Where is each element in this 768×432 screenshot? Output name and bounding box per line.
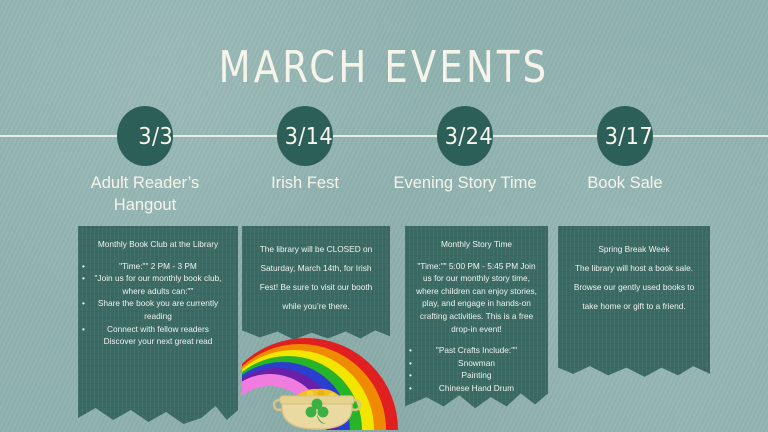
date-badge-label-1: 3/3 — [138, 123, 173, 150]
date-badge-label-3: 3/24 — [445, 123, 493, 150]
poster-stage: MARCH EVENTS 3/3 Adult Reader’s Hangout … — [0, 0, 768, 432]
list-item: Chinese Hand Drum — [415, 382, 538, 395]
event-card-2: The library will be CLOSED on Saturday, … — [242, 226, 390, 342]
list-item: "Join us for our monthly book club, wher… — [88, 272, 228, 297]
date-badge-label-2: 3/14 — [285, 123, 333, 150]
date-badge-label-4: 3/17 — [605, 123, 653, 150]
date-badge-4[interactable]: 3/17 — [597, 106, 653, 166]
card-body-2: The library will be CLOSED on Saturday, … — [252, 240, 380, 316]
list-item: Connect with fellow readers — [88, 323, 228, 336]
date-badge-3[interactable]: 3/24 — [437, 106, 493, 166]
card-body-4: The library will host a book sale. Brows… — [568, 259, 700, 316]
event-title-1: Adult Reader’s Hangout — [60, 172, 230, 216]
list-item: Share the book you are currently reading — [88, 297, 228, 322]
event-card-3: Monthly Story Time "Time:"" 5:00 PM - 5:… — [405, 226, 548, 412]
page-title: MARCH EVENTS — [0, 42, 768, 93]
event-title-2: Irish Fest — [220, 172, 390, 194]
card-heading-3: Monthly Story Time — [415, 238, 538, 251]
list-item: "Past Crafts Include:"" — [415, 344, 538, 357]
event-title-4: Book Sale — [540, 172, 710, 194]
card-bullets-1: "Time:"" 2 PM - 3 PM "Join us for our mo… — [88, 260, 228, 336]
date-badge-1[interactable]: 3/3 — [117, 106, 173, 166]
event-title-3: Evening Story Time — [380, 172, 550, 194]
date-badge-2[interactable]: 3/14 — [277, 106, 333, 166]
event-card-4: Spring Break Week The library will host … — [558, 226, 710, 380]
card-bullets-3: "Past Crafts Include:"" Snowman Painting… — [415, 344, 538, 394]
list-item: Snowman — [415, 357, 538, 370]
card-heading-4: Spring Break Week — [568, 240, 700, 259]
card-footer-1: Discover your next great read — [88, 335, 228, 348]
card-body-3: "Time:"" 5:00 PM - 5:45 PM Join us for o… — [415, 260, 538, 336]
card-heading-1: Monthly Book Club at the Library — [88, 238, 228, 251]
list-item: "Time:"" 2 PM - 3 PM — [88, 260, 228, 273]
event-card-1: Monthly Book Club at the Library "Time:"… — [78, 226, 238, 426]
rainbow-pot-of-gold-icon — [242, 330, 402, 432]
list-item: Painting — [415, 369, 538, 382]
